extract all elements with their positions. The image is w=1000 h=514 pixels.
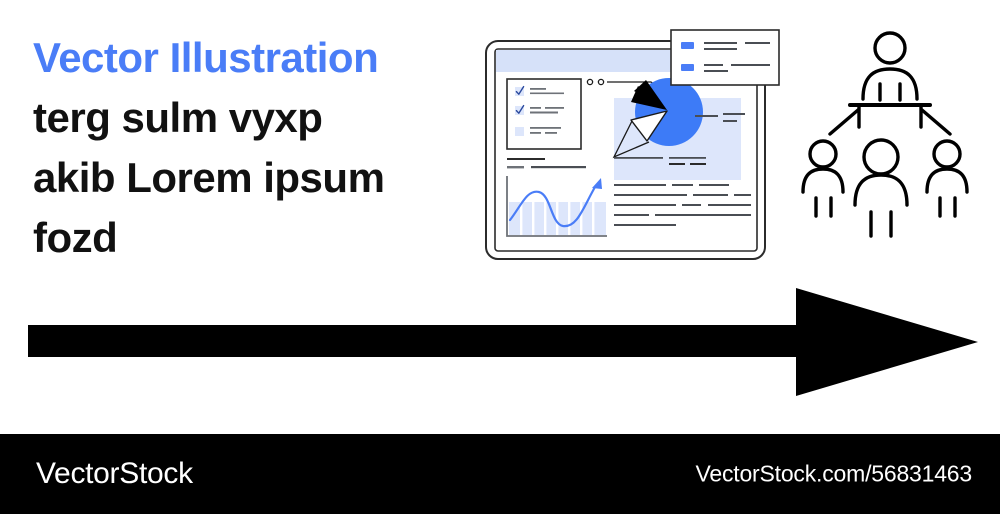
notification-card[interactable]	[671, 30, 779, 85]
card-marker-blue	[681, 42, 694, 49]
headline-block: Vector Illustration terg sulm vyxp akib …	[33, 28, 463, 268]
person-bottom-center	[855, 140, 907, 236]
footer-brand: VectorStock	[36, 457, 193, 491]
headline-line-3: akib Lorem ipsum	[33, 148, 463, 208]
org-connector-diagonal-right	[922, 110, 950, 134]
checklist-card	[507, 79, 581, 149]
arrow-shape	[28, 288, 978, 396]
org-chart-people	[795, 22, 985, 254]
footer-url: VectorStock.com/56831463	[696, 461, 973, 488]
headline-line-4: fozd	[33, 208, 463, 268]
footer-bar: VectorStock VectorStock.com/56831463	[0, 434, 1000, 514]
person-bottom-right	[927, 141, 967, 216]
checkbox-unchecked[interactable]	[515, 127, 524, 136]
org-connector-diagonal-left	[830, 110, 858, 134]
person-top	[863, 33, 917, 100]
card-marker-blue	[681, 64, 694, 71]
right-arrow	[28, 284, 978, 400]
headline-line-2: terg sulm vyxp	[33, 88, 463, 148]
illustration-canvas: Vector Illustration terg sulm vyxp akib …	[0, 0, 1000, 514]
person-bottom-left	[803, 141, 843, 216]
dashboard-illustration	[483, 24, 783, 264]
headline-line-1: Vector Illustration	[33, 28, 463, 88]
